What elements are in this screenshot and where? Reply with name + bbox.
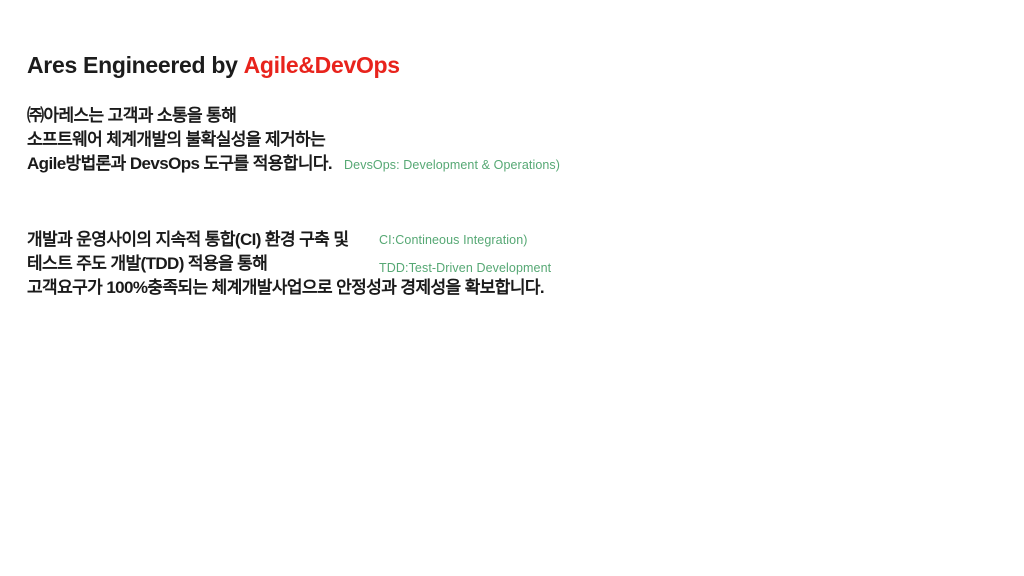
annotation-ci: CI:Contineous Integration) <box>379 228 528 252</box>
paragraph-line: ㈜아레스는 고객과 소통을 통해 <box>27 104 560 128</box>
paragraph-intro-line-2: 소프트웨어 체계개발의 불확실성을 제거하는 <box>27 128 325 152</box>
paragraph-line: Agile방법론과 DevsOps 도구를 적용합니다. DevsOps: De… <box>27 152 560 176</box>
page-title-main: Ares Engineered by <box>27 52 238 78</box>
paragraph-intro-line-3: Agile방법론과 DevsOps 도구를 적용합니다. <box>27 152 332 176</box>
page-title: Ares Engineered byAgile&DevOps <box>27 53 400 78</box>
paragraph-intro: ㈜아레스는 고객과 소통을 통해 소프트웨어 체계개발의 불확실성을 제거하는 … <box>27 104 560 176</box>
paragraph-approach-line-2: 테스트 주도 개발(TDD) 적용을 통해 <box>27 252 267 276</box>
annotation-tdd: TDD:Test-Driven Development <box>379 256 551 280</box>
paragraph-approach: 개발과 운영사이의 지속적 통합(CI) 환경 구축 및 CI:Contineo… <box>27 228 544 300</box>
paragraph-intro-line-1: ㈜아레스는 고객과 소통을 통해 <box>27 104 236 128</box>
page-title-accent: Agile&DevOps <box>244 52 400 78</box>
paragraph-approach-line-1: 개발과 운영사이의 지속적 통합(CI) 환경 구축 및 <box>27 228 348 252</box>
annotation-devsops: DevsOps: Development & Operations) <box>344 153 560 177</box>
paragraph-line: 개발과 운영사이의 지속적 통합(CI) 환경 구축 및 CI:Contineo… <box>27 228 544 252</box>
paragraph-line: 소프트웨어 체계개발의 불확실성을 제거하는 <box>27 128 560 152</box>
slide-canvas: Ares Engineered byAgile&DevOps ㈜아레스는 고객과… <box>0 0 1024 576</box>
